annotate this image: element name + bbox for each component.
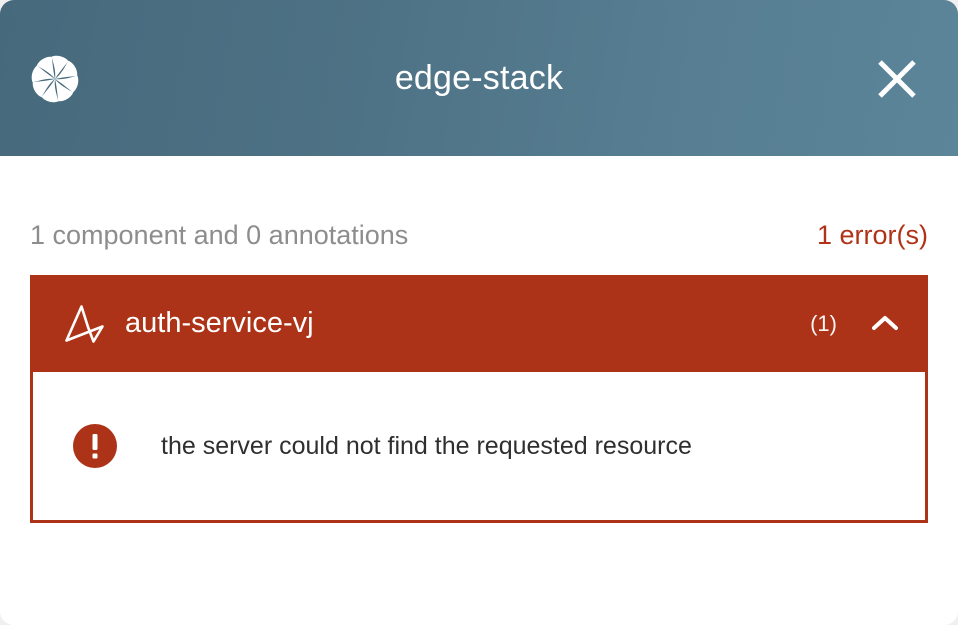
- component-summary-label: 1 component and 0 annotations: [30, 222, 408, 249]
- component-card: auth-service-vj (1) the server coul: [30, 275, 928, 523]
- dialog-header: edge-stack: [0, 0, 958, 156]
- pinwheel-logo-icon: [27, 50, 83, 108]
- collapse-toggle-button[interactable]: [867, 306, 903, 342]
- argo-component-icon: [61, 303, 107, 345]
- component-detail-panel: the server could not find the requested …: [33, 372, 925, 520]
- error-count-label: 1 error(s): [817, 222, 928, 249]
- error-message-text: the server could not find the requested …: [161, 431, 692, 461]
- close-icon: [875, 57, 919, 101]
- component-error-count-badge: (1): [810, 313, 837, 335]
- edge-stack-dialog: edge-stack 1 component and 0 annotations…: [0, 0, 958, 625]
- close-button[interactable]: [868, 50, 926, 108]
- dialog-body: 1 component and 0 annotations 1 error(s)…: [0, 156, 958, 625]
- chevron-up-icon: [868, 307, 902, 341]
- summary-row: 1 component and 0 annotations 1 error(s): [30, 156, 928, 249]
- component-name-label: auth-service-vj: [125, 309, 314, 338]
- alert-exclamation-icon: [73, 424, 117, 468]
- component-header-row[interactable]: auth-service-vj (1): [30, 275, 928, 372]
- page-title: edge-stack: [0, 61, 958, 95]
